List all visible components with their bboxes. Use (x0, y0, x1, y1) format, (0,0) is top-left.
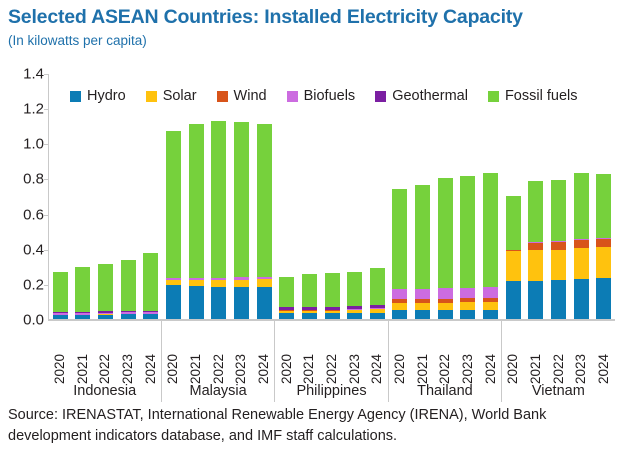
bar-segment-hydro (551, 280, 566, 319)
bar-segment-hydro (596, 278, 611, 319)
bar-segment-solar (460, 302, 475, 310)
bar-segment-fossil-fuels (551, 180, 566, 241)
group-separator (388, 320, 389, 374)
x-tick-label: 2024 (143, 324, 158, 384)
x-tick-label: 2024 (596, 324, 611, 384)
bar-malaysia-2022[interactable] (211, 74, 226, 319)
x-tick-label: 2022 (97, 324, 112, 384)
year-group-thailand: 20202021202220232024 (388, 324, 501, 384)
bar-segment-fossil-fuels (347, 272, 362, 306)
x-tick-label: 2024 (256, 324, 271, 384)
bar-segment-fossil-fuels (234, 122, 249, 277)
bar-segment-hydro (166, 285, 181, 319)
group-separator (501, 372, 502, 402)
x-tick-label: 2020 (392, 324, 407, 384)
y-tick-label: 0.4 (0, 241, 44, 258)
country-label-indonesia: Indonesia (48, 378, 161, 404)
bar-segment-fossil-fuels (415, 185, 430, 289)
bar-malaysia-2021[interactable] (189, 74, 204, 319)
bar-group-philippines (275, 74, 388, 319)
x-tick-label: 2024 (369, 324, 384, 384)
bar-segment-hydro (121, 314, 136, 319)
bar-segment-fossil-fuels (166, 131, 181, 278)
bar-segment-hydro (460, 310, 475, 319)
group-separator (161, 320, 162, 374)
y-tick-label: 0.8 (0, 171, 44, 188)
bar-segment-hydro (53, 315, 68, 319)
y-tick-label: 1.4 (0, 66, 44, 83)
bar-thailand-2024[interactable] (483, 74, 498, 319)
bar-segment-hydro (279, 313, 294, 319)
bar-segment-wind (596, 239, 611, 248)
bar-segment-hydro (75, 315, 90, 319)
country-label-text: Indonesia (73, 383, 136, 399)
bar-segment-hydro (574, 279, 589, 319)
x-tick-label: 2023 (460, 324, 475, 384)
bar-segment-solar (438, 303, 453, 311)
bar-indonesia-2021[interactable] (75, 74, 90, 319)
bar-segment-fossil-fuels (506, 196, 521, 249)
x-tick-label: 2021 (415, 324, 430, 384)
x-tick-label: 2022 (551, 324, 566, 384)
source-note: Source: IRENASTAT, International Renewab… (8, 405, 613, 447)
bar-segment-solar (483, 302, 498, 310)
plot-wrapper: 0.00.20.40.60.81.01.21.4 (0, 70, 623, 325)
bar-segment-fossil-fuels (98, 264, 113, 311)
y-tick-mark (44, 109, 49, 110)
year-group-indonesia: 20202021202220232024 (48, 324, 161, 384)
bar-segment-solar (415, 303, 430, 310)
bar-philippines-2022[interactable] (325, 74, 340, 319)
bar-segment-fossil-fuels (438, 178, 453, 288)
x-axis-country-labels: IndonesiaMalaysiaPhilippinesThailandViet… (48, 378, 615, 404)
x-tick-label: 2024 (483, 324, 498, 384)
x-tick-label: 2023 (573, 324, 588, 384)
y-tick-mark (44, 215, 49, 216)
bar-segment-hydro (506, 281, 521, 319)
y-tick-mark (44, 144, 49, 145)
bar-segment-biofuels (438, 288, 453, 298)
bar-segment-hydro (370, 313, 385, 319)
y-tick-label: 0.0 (0, 312, 44, 329)
bar-philippines-2020[interactable] (279, 74, 294, 319)
bar-segment-solar (257, 279, 272, 287)
bar-segment-hydro (438, 310, 453, 319)
bar-segment-fossil-fuels (211, 121, 226, 278)
bar-segment-fossil-fuels (460, 176, 475, 288)
year-group-vietnam: 20202021202220232024 (502, 324, 615, 384)
bar-malaysia-2020[interactable] (166, 74, 181, 319)
bar-segment-biofuels (415, 289, 430, 299)
bar-segment-solar (574, 248, 589, 279)
group-separator (388, 372, 389, 402)
bar-segment-fossil-fuels (143, 253, 158, 311)
x-tick-label: 2022 (211, 324, 226, 384)
y-tick-mark (44, 285, 49, 286)
x-tick-label: 2020 (52, 324, 67, 384)
x-tick-label: 2022 (437, 324, 452, 384)
x-axis-year-labels: 2020202120222023202420202021202220232024… (48, 324, 615, 384)
bar-segment-fossil-fuels (279, 277, 294, 307)
bar-thailand-2022[interactable] (438, 74, 453, 319)
bar-segment-fossil-fuels (325, 273, 340, 307)
page-title: Selected ASEAN Countries: Installed Elec… (8, 6, 523, 29)
y-tick-label: 0.6 (0, 206, 44, 223)
bar-segment-fossil-fuels (483, 173, 498, 288)
year-group-malaysia: 20202021202220232024 (161, 324, 274, 384)
x-tick-label: 2020 (505, 324, 520, 384)
bar-segment-biofuels (392, 289, 407, 299)
bar-segment-hydro (189, 286, 204, 319)
bar-segment-solar (234, 280, 249, 287)
bar-segment-solar (551, 250, 566, 280)
bar-vietnam-2022[interactable] (551, 74, 566, 319)
y-tick-label: 1.0 (0, 136, 44, 153)
bar-segment-fossil-fuels (574, 173, 589, 239)
bar-segment-hydro (234, 287, 249, 319)
bar-segment-fossil-fuels (528, 181, 543, 242)
bar-segment-biofuels (483, 287, 498, 298)
bar-group-malaysia (162, 74, 275, 319)
bar-indonesia-2023[interactable] (121, 74, 136, 319)
group-separator (274, 372, 275, 402)
country-label-text: Vietnam (532, 383, 585, 399)
bar-group-indonesia (49, 74, 162, 319)
bars-layer (49, 74, 615, 319)
bar-segment-hydro (528, 281, 543, 319)
bar-vietnam-2023[interactable] (574, 74, 589, 319)
bar-segment-hydro (257, 287, 272, 319)
bar-group-vietnam (502, 74, 615, 319)
bar-segment-hydro (98, 315, 113, 319)
bar-vietnam-2024[interactable] (596, 74, 611, 319)
x-tick-label: 2022 (324, 324, 339, 384)
bar-segment-wind (528, 243, 543, 250)
plot-area (48, 74, 615, 320)
bar-group-thailand (389, 74, 502, 319)
x-tick-label: 2020 (279, 324, 294, 384)
x-tick-label: 2021 (528, 324, 543, 384)
country-label-malaysia: Malaysia (161, 378, 274, 404)
group-separator (501, 320, 502, 374)
country-label-philippines: Philippines (275, 378, 388, 404)
country-label-vietnam: Vietnam (502, 378, 615, 404)
bar-segment-fossil-fuels (392, 189, 407, 289)
x-tick-label: 2021 (301, 324, 316, 384)
y-axis: 0.00.20.40.60.81.01.21.4 (0, 70, 44, 320)
bar-segment-solar (392, 303, 407, 310)
bar-segment-hydro (325, 313, 340, 319)
country-label-thailand: Thailand (388, 378, 501, 404)
bar-segment-fossil-fuels (75, 267, 90, 311)
country-label-text: Philippines (296, 383, 366, 399)
bar-vietnam-2021[interactable] (528, 74, 543, 319)
bar-segment-fossil-fuels (257, 124, 272, 277)
bar-segment-solar (211, 280, 226, 287)
x-tick-label: 2021 (75, 324, 90, 384)
bar-segment-biofuels (460, 288, 475, 299)
bar-segment-hydro (347, 313, 362, 319)
x-tick-label: 2023 (347, 324, 362, 384)
bar-philippines-2021[interactable] (302, 74, 317, 319)
bar-indonesia-2024[interactable] (143, 74, 158, 319)
group-separator (274, 320, 275, 374)
bar-segment-solar (506, 251, 521, 281)
x-axis-line (48, 320, 615, 321)
bar-malaysia-2024[interactable] (257, 74, 272, 319)
bar-indonesia-2022[interactable] (98, 74, 113, 319)
bar-thailand-2023[interactable] (460, 74, 475, 319)
bar-segment-fossil-fuels (121, 260, 136, 311)
y-tick-label: 0.2 (0, 276, 44, 293)
bar-segment-hydro (483, 310, 498, 319)
chart-subtitle: (In kilowatts per capita) (8, 33, 147, 48)
bar-segment-hydro (143, 314, 158, 319)
country-label-text: Thailand (417, 383, 473, 399)
bar-malaysia-2023[interactable] (234, 74, 249, 319)
y-tick-mark (44, 179, 49, 180)
x-tick-label: 2023 (120, 324, 135, 384)
bar-indonesia-2020[interactable] (53, 74, 68, 319)
chart-figure: Selected ASEAN Countries: Installed Elec… (0, 0, 623, 453)
bar-philippines-2024[interactable] (370, 74, 385, 319)
bar-philippines-2023[interactable] (347, 74, 362, 319)
bar-thailand-2021[interactable] (415, 74, 430, 319)
bar-segment-hydro (392, 310, 407, 319)
y-tick-label: 1.2 (0, 101, 44, 118)
bar-segment-wind (551, 242, 566, 250)
bar-segment-fossil-fuels (302, 274, 317, 307)
bar-segment-wind (574, 240, 589, 249)
x-tick-label: 2023 (233, 324, 248, 384)
bar-segment-fossil-fuels (189, 124, 204, 278)
bar-segment-solar (596, 247, 611, 278)
group-separator (161, 372, 162, 402)
bar-segment-fossil-fuels (370, 268, 385, 305)
year-group-philippines: 20202021202220232024 (275, 324, 388, 384)
bar-segment-hydro (302, 313, 317, 319)
bar-vietnam-2020[interactable] (506, 74, 521, 319)
x-tick-label: 2020 (165, 324, 180, 384)
bar-segment-solar (528, 250, 543, 280)
bar-segment-hydro (415, 310, 430, 319)
bar-segment-fossil-fuels (596, 174, 611, 237)
y-tick-mark (44, 250, 49, 251)
country-label-text: Malaysia (190, 383, 247, 399)
bar-segment-hydro (211, 287, 226, 319)
bar-thailand-2020[interactable] (392, 74, 407, 319)
y-tick-mark (44, 74, 49, 75)
bar-segment-fossil-fuels (53, 272, 68, 311)
x-tick-label: 2021 (188, 324, 203, 384)
